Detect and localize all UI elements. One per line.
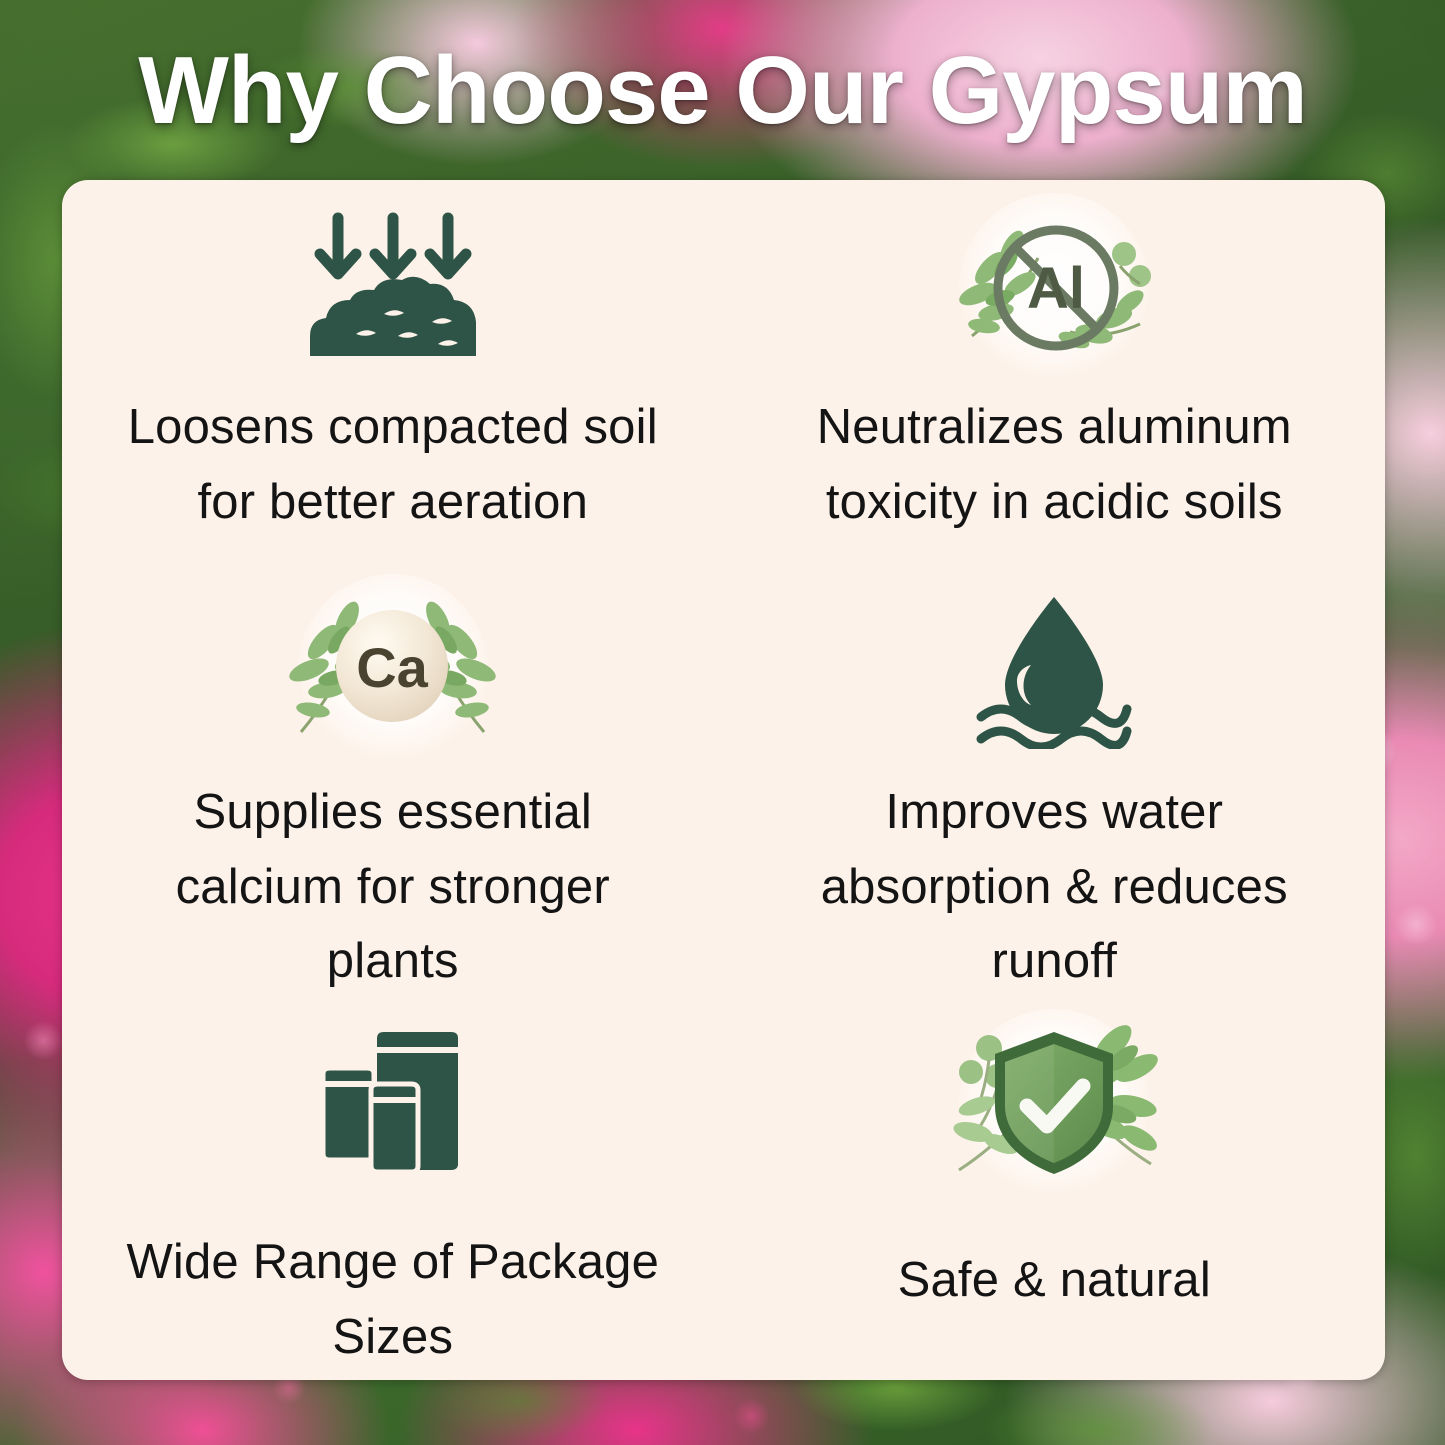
water-icon-wrap (969, 579, 1139, 759)
shield-icon-wrap (947, 1009, 1162, 1199)
feature-text-neutralizes-aluminum: Neutralizes aluminum toxicity in acidic … (780, 390, 1330, 540)
feature-item-package-sizes: Wide Range of Package Sizes (62, 999, 724, 1380)
features-grid: Loosens compacted soil for better aerati… (62, 180, 1385, 1380)
shield-check-leaves-icon (947, 1014, 1162, 1194)
feature-text-improves-water: Improves water absorption & reduces runo… (780, 775, 1330, 1000)
feature-text-supplies-calcium: Supplies essential calcium for stronger … (118, 775, 668, 1000)
feature-item-supplies-calcium: Ca Supplies essential calcium for strong… (62, 561, 724, 1000)
aluminum-symbol-label: Al (1027, 256, 1085, 321)
feature-text-safe-natural: Safe & natural (898, 1243, 1211, 1318)
calcium-sphere-leaves-icon: Ca (285, 586, 500, 751)
feature-item-improves-water: Improves water absorption & reduces runo… (724, 561, 1386, 1000)
feature-item-neutralizes-aluminum: Al Neutralizes aluminum toxicity in acid… (724, 180, 1386, 561)
three-pouches-icon (305, 1024, 480, 1184)
features-card: Loosens compacted soil for better aerati… (62, 180, 1385, 1380)
feature-text-loosens-soil: Loosens compacted soil for better aerati… (118, 390, 668, 540)
calcium-icon-wrap: Ca (285, 579, 500, 759)
no-aluminum-icon-wrap: Al (954, 198, 1154, 378)
soil-arrows-icon (298, 208, 488, 368)
soil-arrows-icon-wrap (298, 198, 488, 378)
no-aluminum-leaves-icon: Al (954, 206, 1154, 371)
package-icon-wrap (305, 1009, 480, 1199)
feature-item-loosens-soil: Loosens compacted soil for better aerati… (62, 180, 724, 561)
water-drop-waves-icon (969, 589, 1139, 749)
feature-text-package-sizes: Wide Range of Package Sizes (118, 1225, 668, 1375)
infographic-stage: Why Choose Our Gypsum (0, 0, 1445, 1445)
calcium-symbol-label: Ca (356, 636, 428, 699)
page-title: Why Choose Our Gypsum (0, 36, 1445, 146)
feature-item-safe-natural: Safe & natural (724, 999, 1386, 1380)
